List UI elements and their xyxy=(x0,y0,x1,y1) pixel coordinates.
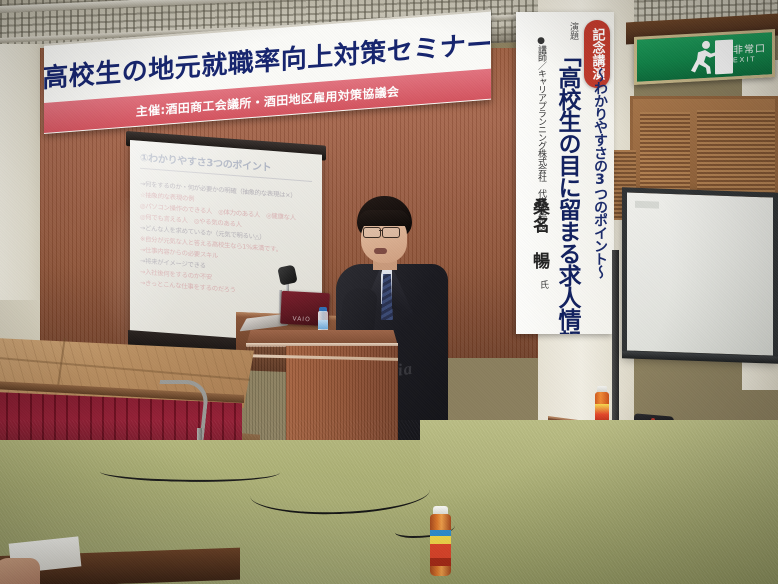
topic-label: 演題 xyxy=(567,22,580,40)
lecture-subtitle: 〜わかりやすさの3つのポイント〜 xyxy=(590,68,610,278)
water-bottle-label xyxy=(318,320,328,329)
whiteboard-label-tag xyxy=(635,201,659,209)
floor-bottle-label xyxy=(430,530,451,566)
glasses-lens-right xyxy=(382,227,400,238)
seminar-photo-scene: 非常口 EXIT 高校生の地元就職率向上対策セミナー 主催:酒田商工会議所・酒田… xyxy=(0,0,778,584)
banner-pole xyxy=(612,250,619,430)
speaker-name-suffix: 氏 xyxy=(537,280,550,289)
whiteboard xyxy=(622,187,778,360)
glasses-bridge xyxy=(379,230,383,231)
glasses-lens-left xyxy=(363,227,381,238)
foreground-attendee-hand xyxy=(0,558,40,584)
laptop-brand-logo: VAIO xyxy=(292,315,311,323)
emergency-exit-sign: 非常口 EXIT xyxy=(634,29,775,85)
mic-stand-head-icon xyxy=(277,264,297,285)
slide-title: ①わかりやすさ3つのポイント xyxy=(140,149,312,177)
running-man-exit-icon xyxy=(685,39,719,77)
lecture-main-title: 「高校生の目に留まる求人情報」 xyxy=(550,44,584,334)
exit-label-en: EXIT xyxy=(733,55,766,64)
exit-label-jp: 非常口 xyxy=(733,45,766,57)
presenter-hair-fringe xyxy=(358,210,410,226)
vertical-lecture-banner: 記念講演 演題 「高校生の目に留まる求人情報」 〜わかりやすさの3つのポイント〜… xyxy=(516,12,614,334)
presenter-mouth xyxy=(374,248,387,254)
speaker-name: 桑名 暢 xyxy=(527,198,552,270)
exit-sign-text: 非常口 EXIT xyxy=(733,45,766,65)
